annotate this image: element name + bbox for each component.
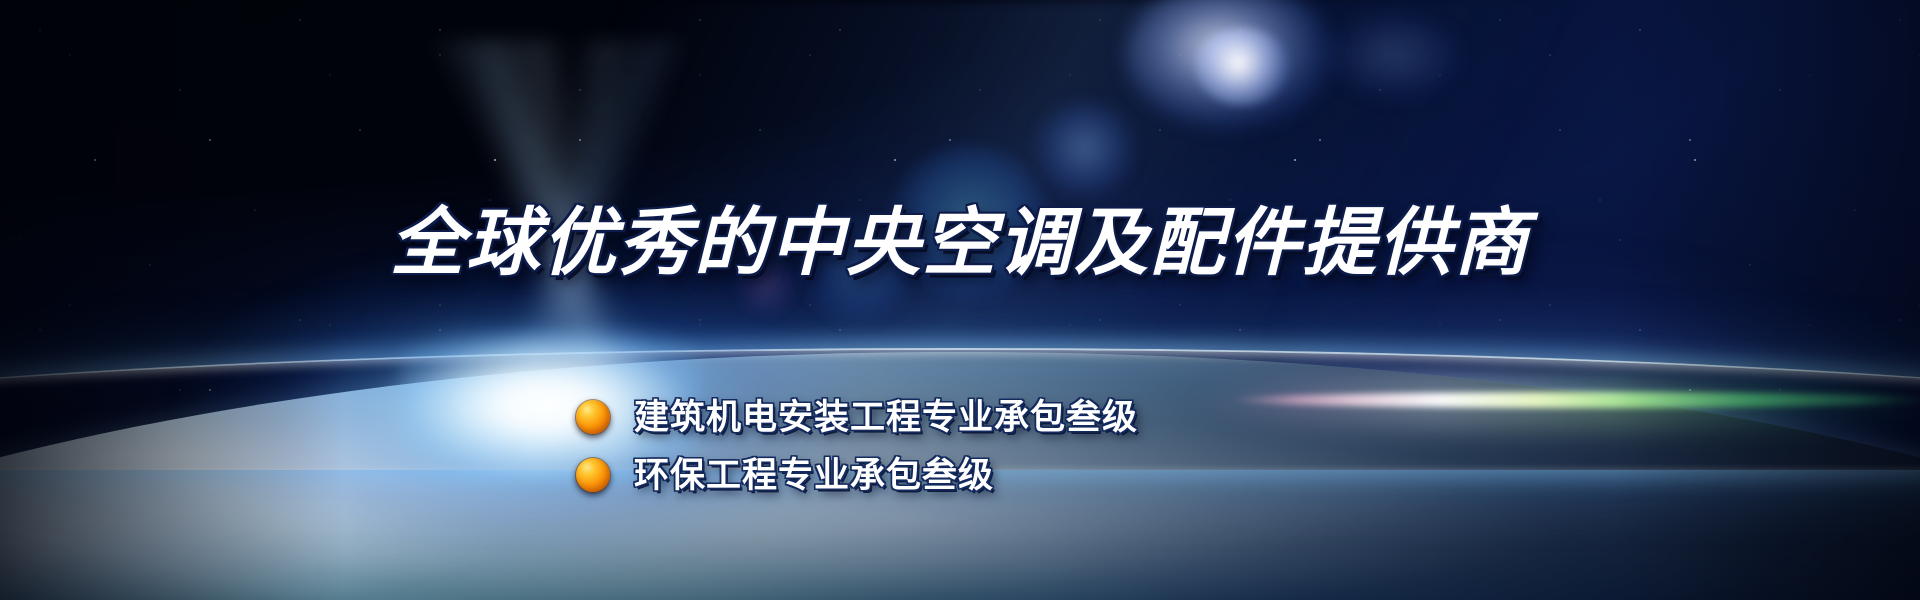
hero-banner: 全球优秀的中央空调及配件提供商 建筑机电安装工程专业承包叁级 环保工程专业承包叁… bbox=[0, 0, 1920, 600]
banner-headline: 全球优秀的中央空调及配件提供商 bbox=[0, 206, 1920, 280]
banner-bullet-item-1: 建筑机电安装工程专业承包叁级 bbox=[576, 388, 1138, 446]
banner-bullet-item-2: 环保工程专业承包叁级 bbox=[576, 446, 1138, 504]
banner-copy: 全球优秀的中央空调及配件提供商 建筑机电安装工程专业承包叁级 环保工程专业承包叁… bbox=[0, 0, 1920, 600]
banner-bullet-label-1: 建筑机电安装工程专业承包叁级 bbox=[634, 400, 1138, 435]
orange-sphere-bullet-icon bbox=[576, 400, 610, 434]
orange-sphere-bullet-icon bbox=[576, 458, 610, 492]
banner-bullet-label-2: 环保工程专业承包叁级 bbox=[634, 458, 994, 493]
banner-bullet-list: 建筑机电安装工程专业承包叁级 环保工程专业承包叁级 bbox=[576, 388, 1138, 504]
